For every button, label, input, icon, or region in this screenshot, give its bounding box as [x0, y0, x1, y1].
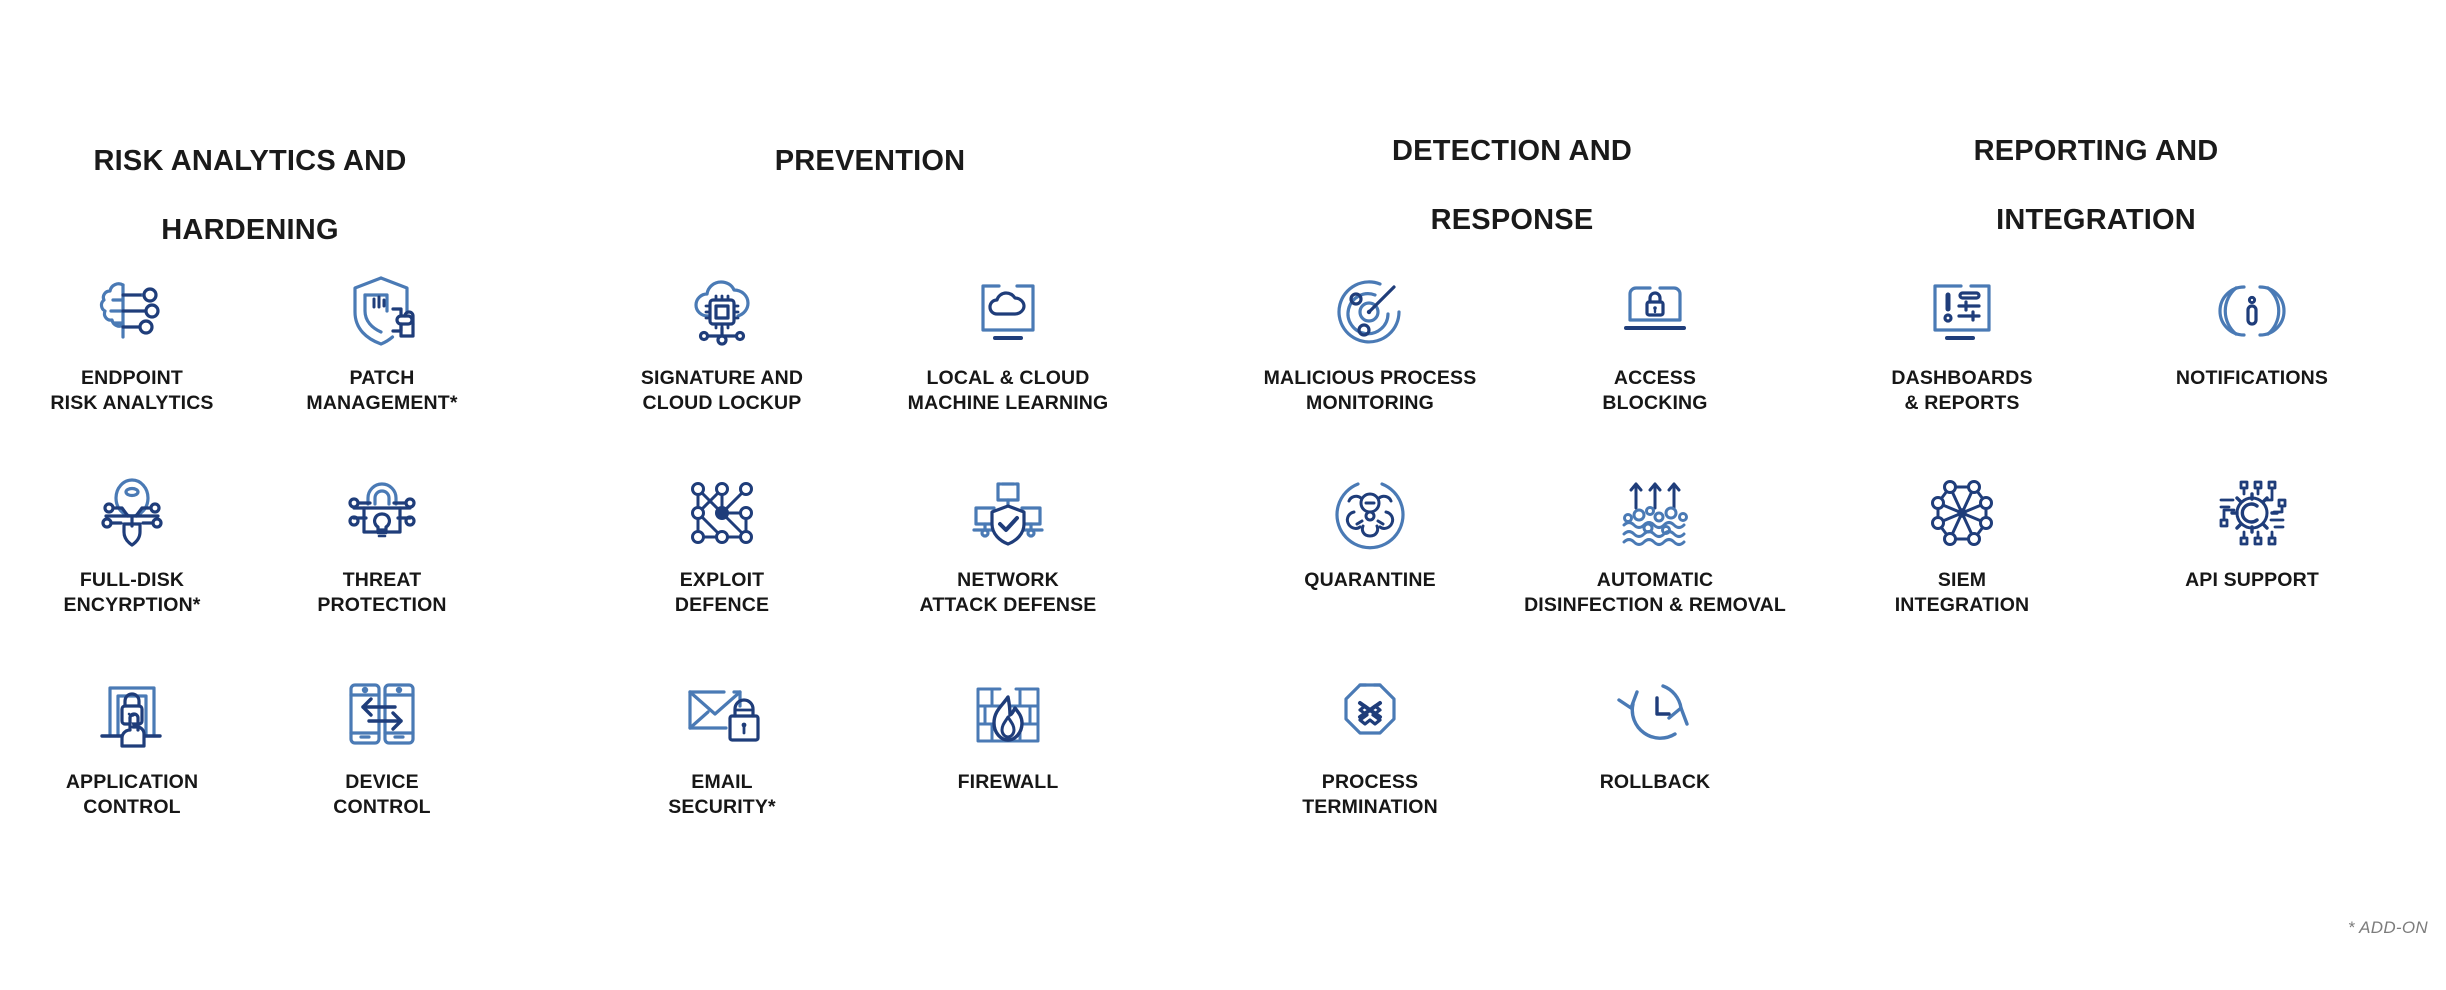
biohazard-icon — [1220, 470, 1520, 556]
addon-footnote: * ADD-ON — [2348, 918, 2428, 938]
brick-flame-icon — [858, 672, 1158, 758]
info-waves-icon — [2102, 268, 2402, 354]
cloud-chip-icon — [572, 268, 872, 354]
capability-cell-process-termination[interactable]: PROCESS TERMINATION — [1220, 672, 1520, 820]
capability-cell-firewall[interactable]: FIREWALL — [858, 672, 1158, 795]
capability-cell-patch-management[interactable]: PATCH MANAGEMENT* — [232, 268, 532, 416]
capability-label: API SUPPORT — [2102, 568, 2402, 593]
capability-grid: ENDPOINT RISK ANALYTICS PATCH MANAGEMENT… — [0, 0, 2446, 990]
network-hub-icon — [1812, 470, 2112, 556]
capability-label: MALICIOUS PROCESS MONITORING — [1220, 366, 1520, 416]
capability-cell-dashboards-and-reports[interactable]: DASHBOARDS & REPORTS — [1812, 268, 2112, 416]
capability-cell-local-and-cloud-machine-learning[interactable]: LOCAL & CLOUD MACHINE LEARNING — [858, 268, 1158, 416]
capability-cell-exploit-defence[interactable]: EXPLOIT DEFENCE — [572, 470, 872, 618]
capability-label: SIGNATURE AND CLOUD LOCKUP — [572, 366, 872, 416]
capability-label: NETWORK ATTACK DEFENSE — [858, 568, 1158, 618]
radar-icon — [1220, 268, 1520, 354]
capability-matrix-canvas: RISK ANALYTICS AND HARDENING PREVENTION … — [0, 0, 2446, 990]
capability-cell-quarantine[interactable]: QUARANTINE — [1220, 470, 1520, 593]
capability-label: PATCH MANAGEMENT* — [232, 366, 532, 416]
gear-chip-icon — [2102, 470, 2402, 556]
capability-label: PROCESS TERMINATION — [1220, 770, 1520, 820]
network-shield-check-icon — [858, 470, 1158, 556]
capability-label: QUARANTINE — [1220, 568, 1520, 593]
capability-label: FIREWALL — [858, 770, 1158, 795]
capability-label: EMAIL SECURITY* — [572, 770, 872, 820]
capability-label: NOTIFICATIONS — [2102, 366, 2402, 391]
capability-label: ROLLBACK — [1505, 770, 1805, 795]
capability-cell-siem-integration[interactable]: SIEM INTEGRATION — [1812, 470, 2112, 618]
capability-label: DASHBOARDS & REPORTS — [1812, 366, 2112, 416]
shield-puzzle-icon — [232, 268, 532, 354]
monitor-sliders-icon — [1812, 268, 2112, 354]
capability-cell-api-support[interactable]: API SUPPORT — [2102, 470, 2402, 593]
capability-cell-network-attack-defense[interactable]: NETWORK ATTACK DEFENSE — [858, 470, 1158, 618]
capability-cell-notifications[interactable]: NOTIFICATIONS — [2102, 268, 2402, 391]
envelope-lock-icon — [572, 672, 872, 758]
laptop-lock-icon — [1505, 268, 1805, 354]
capability-cell-signature-and-cloud-lockup[interactable]: SIGNATURE AND CLOUD LOCKUP — [572, 268, 872, 416]
capability-label: DEVICE CONTROL — [232, 770, 532, 820]
capability-cell-email-security[interactable]: EMAIL SECURITY* — [572, 672, 872, 820]
capability-label: ACCESS BLOCKING — [1505, 366, 1805, 416]
capability-label: AUTOMATIC DISINFECTION & REMOVAL — [1505, 568, 1805, 618]
capability-label: THREAT PROTECTION — [232, 568, 532, 618]
capability-cell-access-blocking[interactable]: ACCESS BLOCKING — [1505, 268, 1805, 416]
capability-cell-threat-protection[interactable]: THREAT PROTECTION — [232, 470, 532, 618]
clock-rotate-icon — [1505, 672, 1805, 758]
capability-label: EXPLOIT DEFENCE — [572, 568, 872, 618]
capability-cell-device-control[interactable]: DEVICE CONTROL — [232, 672, 532, 820]
octagon-x-icon — [1220, 672, 1520, 758]
capability-label: SIEM INTEGRATION — [1812, 568, 2112, 618]
capability-cell-automatic-disinfection-and-removal[interactable]: AUTOMATIC DISINFECTION & REMOVAL — [1505, 470, 1805, 618]
capability-cell-malicious-process-monitoring[interactable]: MALICIOUS PROCESS MONITORING — [1220, 268, 1520, 416]
capability-label: LOCAL & CLOUD MACHINE LEARNING — [858, 366, 1158, 416]
lock-bulb-circuit-icon — [232, 470, 532, 556]
monitor-cloud-icon — [858, 268, 1158, 354]
capability-cell-rollback[interactable]: ROLLBACK — [1505, 672, 1805, 795]
bubbles-arrows-icon — [1505, 470, 1805, 556]
neural-mesh-icon — [572, 470, 872, 556]
two-phones-transfer-icon — [232, 672, 532, 758]
